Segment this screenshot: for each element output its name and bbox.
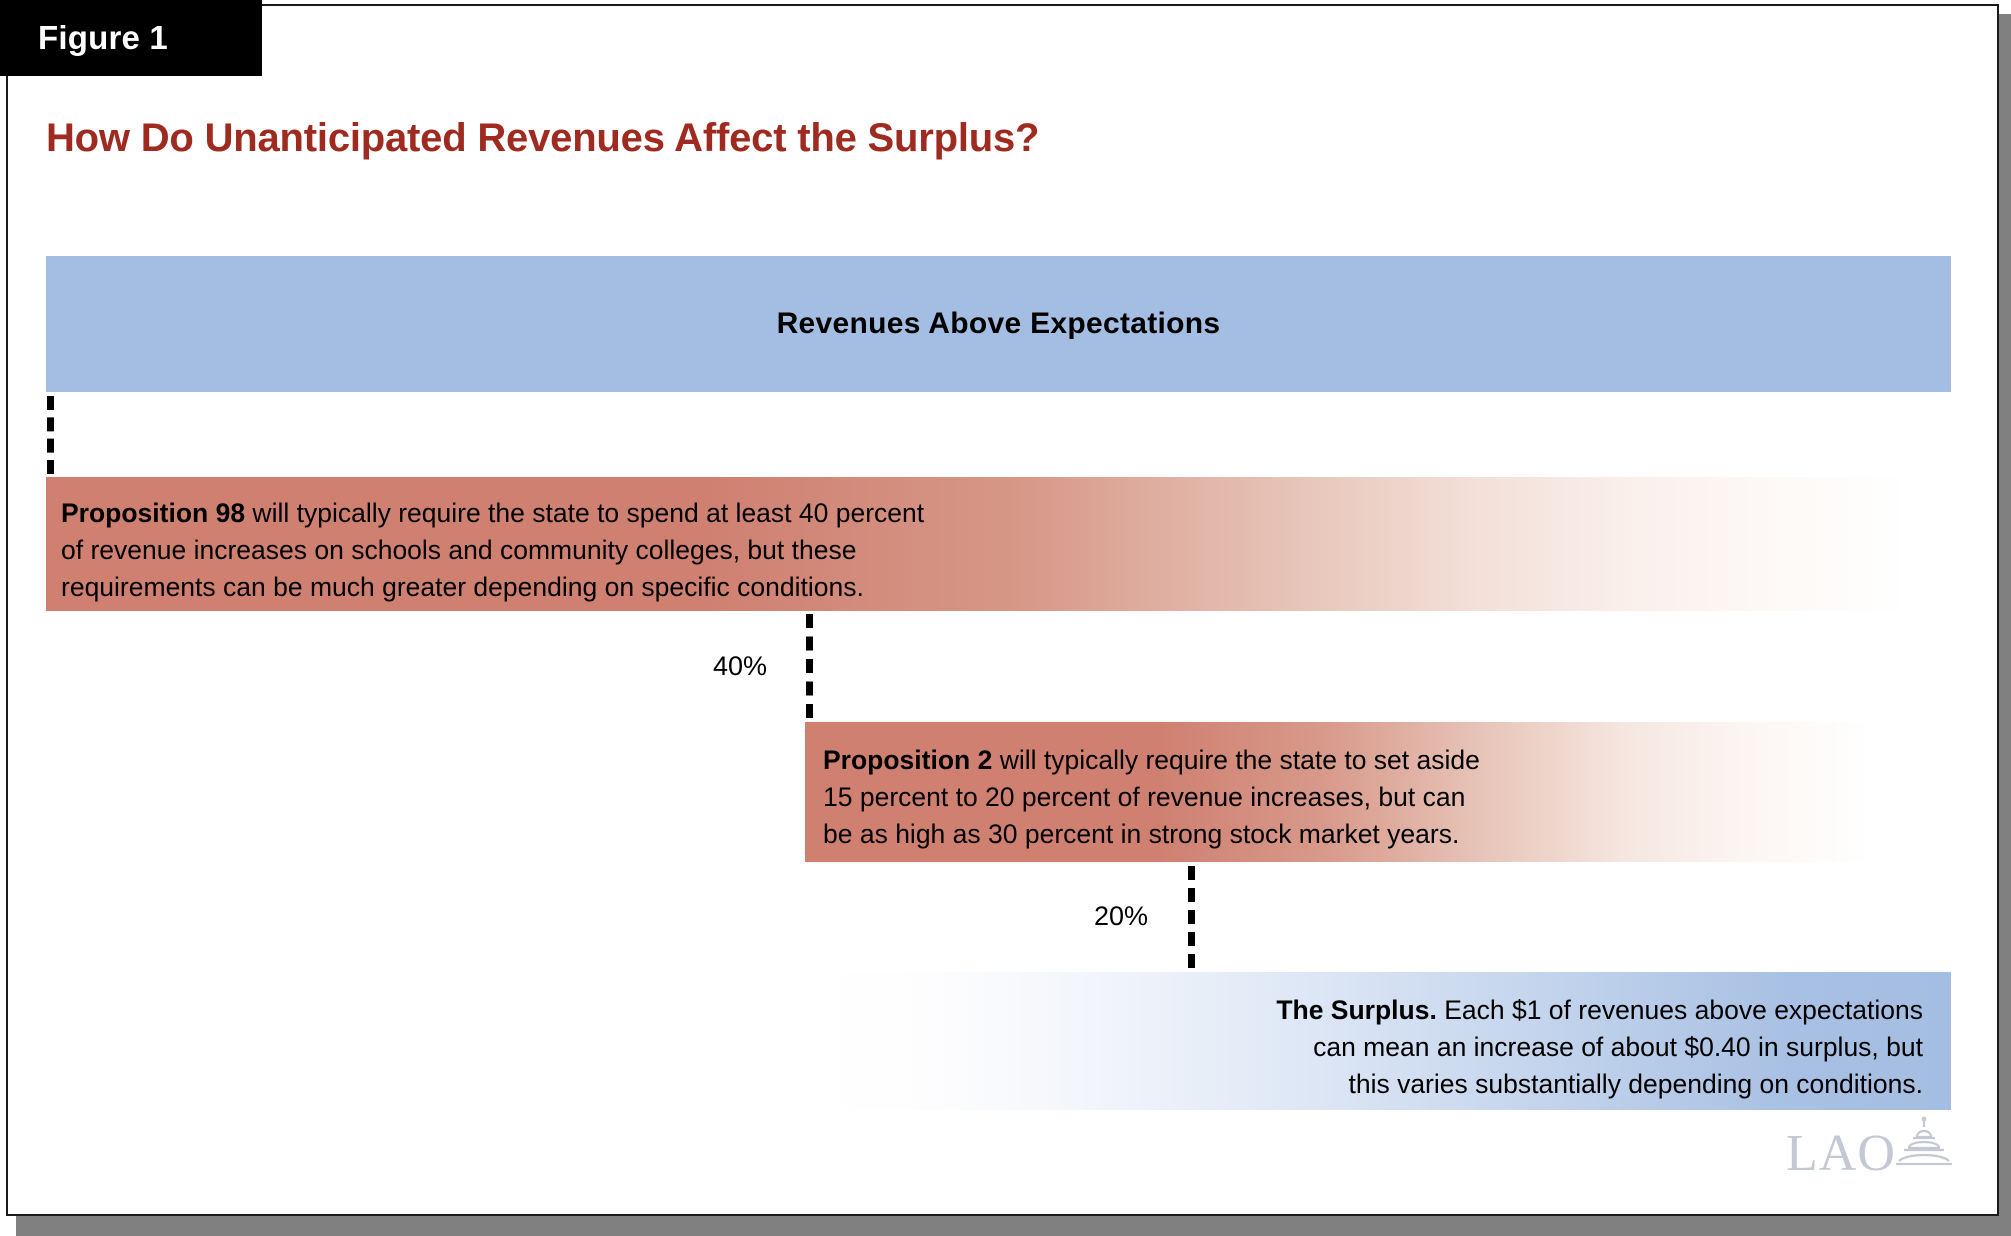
the-surplus-line-3: this varies substantially depending on c…: [1348, 1069, 1923, 1099]
proposition-98-text: Proposition 98 will typically require th…: [61, 495, 1986, 606]
the-surplus-text: The Surplus. Each $1 of revenues above e…: [822, 992, 1951, 1103]
lao-wordmark: LAO: [1786, 1128, 1896, 1180]
connector-dashed-line-top: [47, 396, 54, 474]
proposition-98-line-3: requirements can be much greater dependi…: [61, 572, 864, 602]
figure-number-label: Figure 1: [0, 19, 168, 57]
revenues-above-expectations-bar: Revenues Above Expectations: [46, 256, 1951, 392]
the-surplus-line-1: Each $1 of revenues above expectations: [1437, 995, 1923, 1025]
proposition-98-box: Proposition 98 will typically require th…: [46, 477, 1986, 611]
capitol-dome-icon: [1893, 1115, 1955, 1178]
connector-dashed-line-40: [806, 614, 813, 718]
figure-number-tab: Figure 1: [0, 0, 262, 76]
connector-dashed-line-20: [1188, 866, 1195, 968]
connector-label-40-percent: 40%: [713, 651, 767, 682]
figure-canvas: Figure 1 How Do Unanticipated Revenues A…: [0, 0, 2011, 1236]
lao-logo: LAO: [1786, 1115, 1955, 1180]
proposition-2-text: Proposition 2 will typically require the…: [823, 742, 1990, 853]
proposition-2-line-1: will typically require the state to set …: [992, 745, 1480, 775]
the-surplus-line-2: can mean an increase of about $0.40 in s…: [1313, 1032, 1923, 1062]
revenues-bar-label: Revenues Above Expectations: [777, 307, 1221, 341]
proposition-2-lead: Proposition 2: [823, 745, 992, 775]
proposition-98-line-1: will typically require the state to spen…: [245, 498, 924, 528]
proposition-2-box: Proposition 2 will typically require the…: [805, 722, 1990, 862]
proposition-2-line-2: 15 percent to 20 percent of revenue incr…: [823, 782, 1465, 812]
the-surplus-box: The Surplus. Each $1 of revenues above e…: [822, 972, 1951, 1110]
connector-label-20-percent: 20%: [1094, 901, 1148, 932]
proposition-98-lead: Proposition 98: [61, 498, 245, 528]
proposition-98-line-2: of revenue increases on schools and comm…: [61, 535, 856, 565]
page-title: How Do Unanticipated Revenues Affect the…: [46, 116, 1039, 161]
proposition-2-line-3: be as high as 30 percent in strong stock…: [823, 819, 1459, 849]
the-surplus-lead: The Surplus.: [1276, 995, 1437, 1025]
